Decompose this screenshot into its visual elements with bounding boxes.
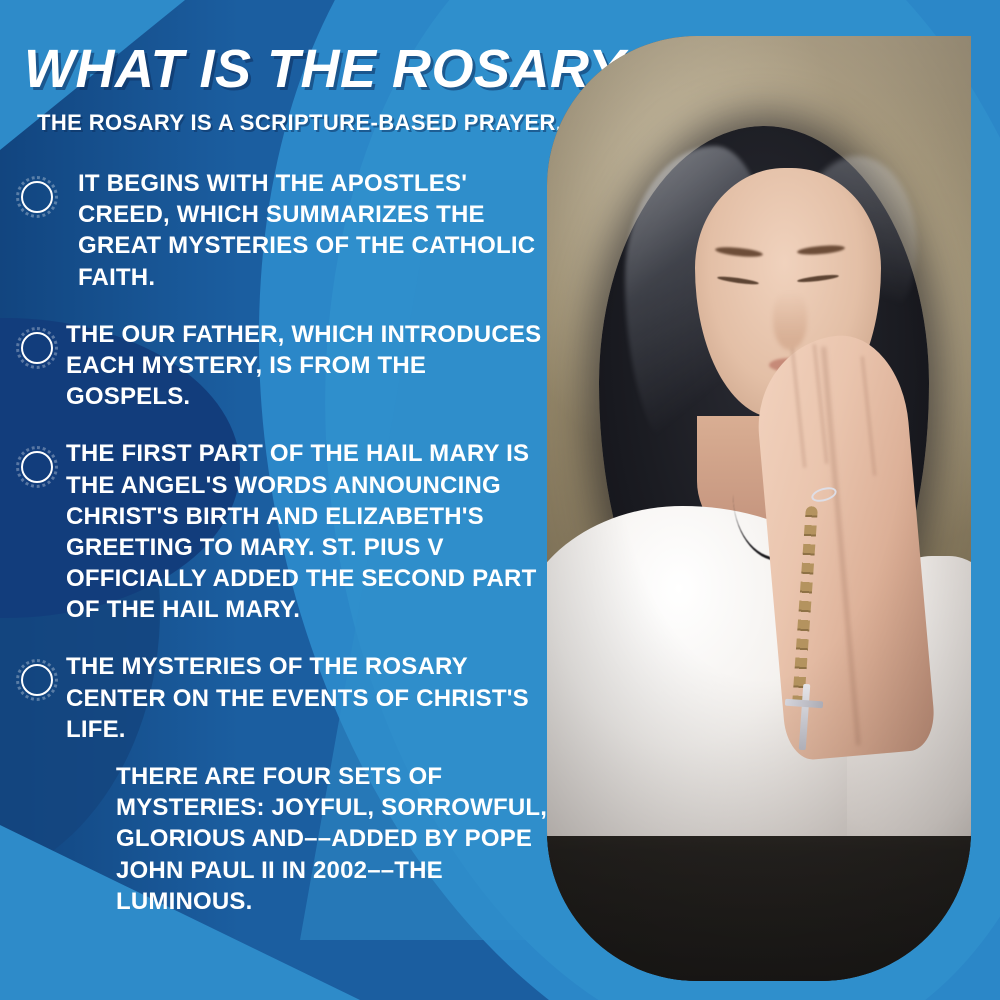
page-subtitle: THE ROSARY IS A SCRIPTURE-BASED PRAYER. — [37, 110, 562, 136]
list-item-text: THE FIRST PART OF THE HAIL MARY IS THE A… — [66, 438, 560, 625]
text-column: WHAT IS THE ROSARY? THE ROSARY IS A SCRI… — [0, 0, 560, 1000]
circle-ring-bullet-icon — [14, 319, 66, 365]
list-item: THE MYSTERIES OF THE ROSARY CENTER ON TH… — [0, 651, 560, 917]
list-item: THE FIRST PART OF THE HAIL MARY IS THE A… — [0, 438, 560, 625]
list-item-text: THE OUR FATHER, WHICH INTRODUCES EACH MY… — [66, 319, 560, 413]
praying-woman-photo-panel — [547, 36, 971, 981]
list-item-body: THE MYSTERIES OF THE ROSARY CENTER ON TH… — [66, 651, 560, 917]
list-item: THE OUR FATHER, WHICH INTRODUCES EACH MY… — [0, 319, 560, 413]
circle-ring-bullet-icon — [14, 168, 66, 214]
list-item-sub-note: THERE ARE FOUR SETS OF MYSTERIES: JOYFUL… — [116, 761, 560, 917]
bullet-list: IT BEGINS WITH THE APOSTLES' CREED, WHIC… — [0, 168, 560, 943]
circle-ring-bullet-icon — [14, 438, 66, 484]
list-item-text: IT BEGINS WITH THE APOSTLES' CREED, WHIC… — [66, 168, 560, 293]
list-item-text: THE MYSTERIES OF THE ROSARY CENTER ON TH… — [66, 651, 560, 745]
rosary-infographic-poster: WHAT IS THE ROSARY? THE ROSARY IS A SCRI… — [0, 0, 1000, 1000]
circle-ring-bullet-icon — [14, 651, 66, 697]
list-item: IT BEGINS WITH THE APOSTLES' CREED, WHIC… — [0, 168, 560, 293]
woman-praying-with-rosary-photo — [547, 36, 971, 981]
